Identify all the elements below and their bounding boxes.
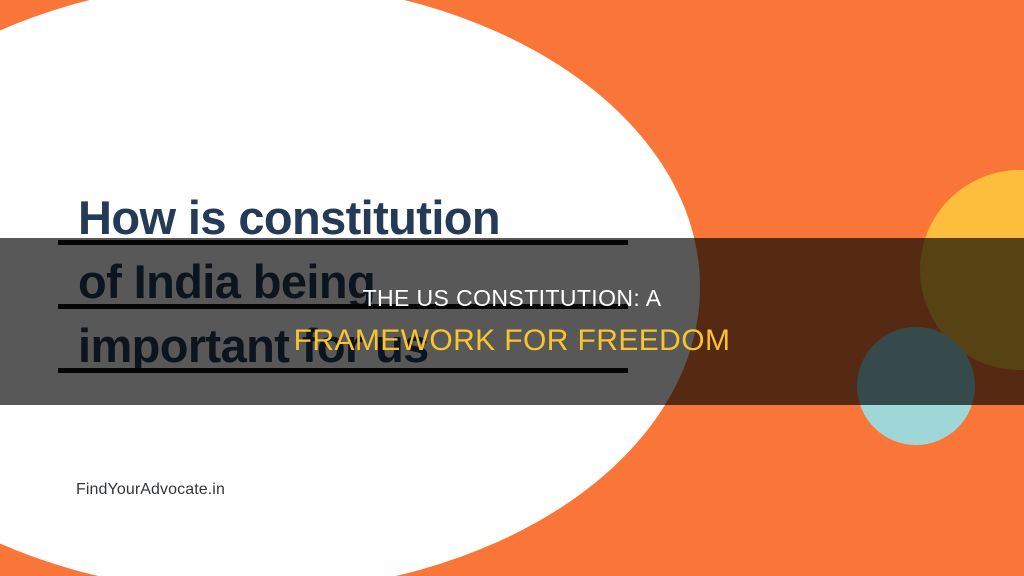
image-canvas: How is constitution of India being impor… <box>0 0 1024 576</box>
caption-dim-band <box>0 238 1024 405</box>
source-site-label: FindYourAdvocate.in <box>76 481 225 499</box>
